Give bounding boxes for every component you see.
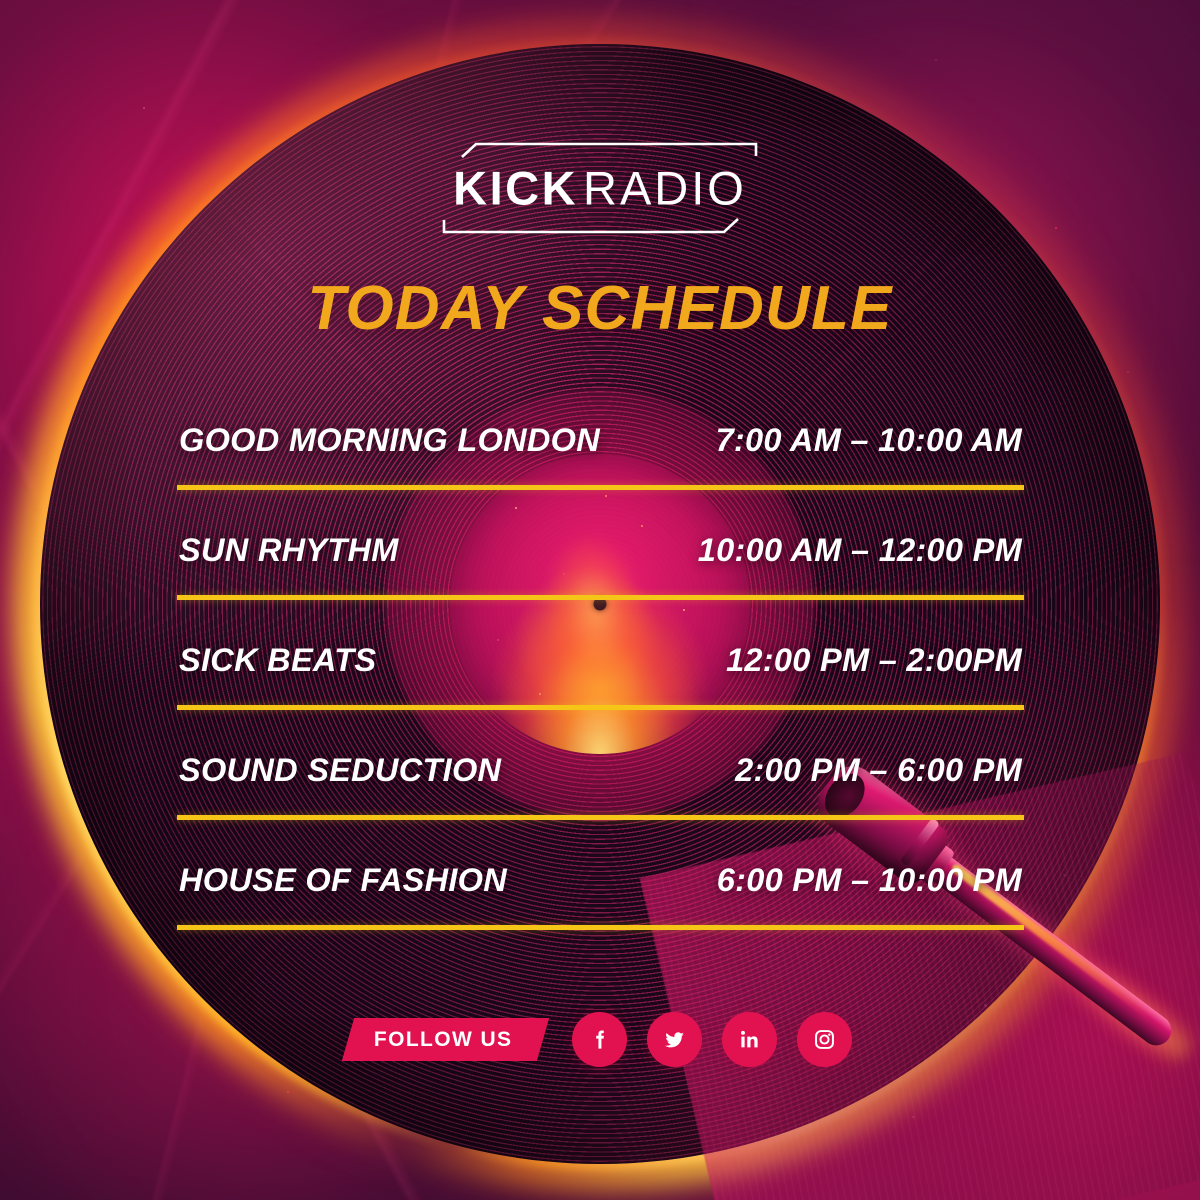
- logo-wordmark: KICK RADIO: [453, 165, 747, 212]
- show-time: 12:00 PM – 2:00PM: [726, 642, 1022, 679]
- schedule-row[interactable]: SICK BEATS 12:00 PM – 2:00PM: [177, 618, 1024, 728]
- twitter-icon: [661, 1026, 688, 1053]
- show-name: GOOD MORNING LONDON: [179, 422, 600, 459]
- kickradio-logo[interactable]: KICK RADIO: [440, 142, 760, 234]
- page-title: TODAY SCHEDULE: [0, 278, 1200, 340]
- poster-content: KICK RADIO TODAY SCHEDULE GOOD MORNING L…: [0, 0, 1200, 1200]
- social-link-facebook[interactable]: [572, 1012, 627, 1067]
- show-name: SUN RHYTHM: [179, 532, 399, 569]
- show-name: SICK BEATS: [179, 642, 376, 679]
- schedule-list: GOOD MORNING LONDON 7:00 AM – 10:00 AM S…: [177, 398, 1024, 948]
- facebook-icon: [587, 1027, 613, 1053]
- linkedin-icon: [737, 1027, 762, 1052]
- social-link-twitter[interactable]: [647, 1012, 702, 1067]
- schedule-row[interactable]: SOUND SEDUCTION 2:00 PM – 6:00 PM: [177, 728, 1024, 838]
- row-divider: [177, 815, 1024, 820]
- social-link-linkedin[interactable]: [722, 1012, 777, 1067]
- show-time: 10:00 AM – 12:00 PM: [698, 532, 1022, 569]
- show-time: 2:00 PM – 6:00 PM: [735, 752, 1022, 789]
- row-divider: [177, 705, 1024, 710]
- social-links: [572, 1012, 852, 1067]
- schedule-row[interactable]: SUN RHYTHM 10:00 AM – 12:00 PM: [177, 508, 1024, 618]
- social-link-instagram[interactable]: [797, 1012, 852, 1067]
- row-divider: [177, 485, 1024, 490]
- row-divider: [177, 925, 1024, 930]
- schedule-row[interactable]: GOOD MORNING LONDON 7:00 AM – 10:00 AM: [177, 398, 1024, 508]
- logo-bracket-bottom-icon: [440, 218, 760, 234]
- show-name: HOUSE OF FASHION: [179, 862, 507, 899]
- show-time: 7:00 AM – 10:00 AM: [716, 422, 1022, 459]
- logo-kick-text: KICK: [453, 165, 578, 212]
- follow-us-label: FOLLOW US: [374, 1028, 513, 1052]
- follow-us-banner: FOLLOW US: [342, 1018, 549, 1061]
- instagram-icon: [812, 1027, 837, 1052]
- show-time: 6:00 PM – 10:00 PM: [717, 862, 1022, 899]
- show-name: SOUND SEDUCTION: [179, 752, 501, 789]
- row-divider: [177, 595, 1024, 600]
- logo-bracket-top-icon: [440, 142, 760, 158]
- schedule-row[interactable]: HOUSE OF FASHION 6:00 PM – 10:00 PM: [177, 838, 1024, 948]
- footer-follow-bar: FOLLOW US: [0, 1012, 1200, 1067]
- logo-radio-text: RADIO: [583, 165, 747, 212]
- radio-schedule-poster: KICK RADIO TODAY SCHEDULE GOOD MORNING L…: [0, 0, 1200, 1200]
